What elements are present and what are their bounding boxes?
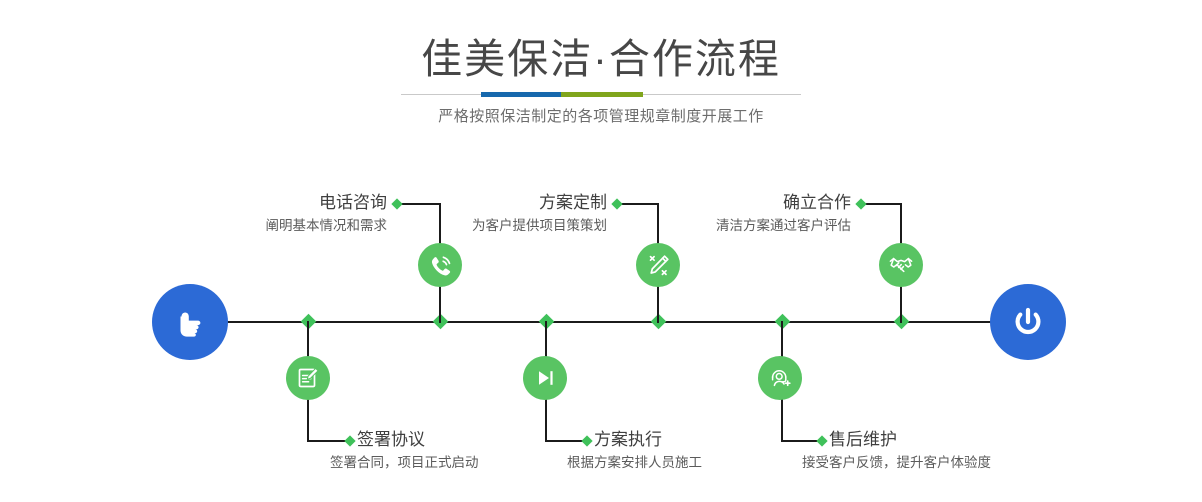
step-label-3: 方案定制 为客户提供项目策策划 xyxy=(380,192,607,236)
step-label-1: 电话咨询 阐明基本情况和需求 xyxy=(150,192,387,236)
step-label-5: 确立合作 清洁方案通过客户评估 xyxy=(620,192,851,236)
timeline-start-badge xyxy=(152,284,228,360)
step-title: 售后维护 xyxy=(829,429,1109,451)
connector-tip-5 xyxy=(855,198,866,209)
step-title: 电话咨询 xyxy=(150,192,387,214)
step-title: 确立合作 xyxy=(620,192,851,214)
title-divider xyxy=(401,92,801,97)
step-icon-badge-5 xyxy=(879,243,923,287)
step-desc: 阐明基本情况和需求 xyxy=(150,216,387,236)
step-icon-badge-4 xyxy=(523,356,567,400)
divider-segment-blue xyxy=(481,92,561,97)
step-desc: 接受客户反馈，提升客户体验度 xyxy=(802,453,1109,473)
step-icon-badge-2 xyxy=(286,356,330,400)
document-sign-icon xyxy=(295,365,321,391)
step-title: 方案定制 xyxy=(380,192,607,214)
phone-call-icon xyxy=(426,251,454,279)
page-title: 佳美保洁·合作流程 xyxy=(0,36,1202,82)
divider-segment-green xyxy=(561,92,643,97)
step-desc: 清洁方案通过客户评估 xyxy=(620,216,851,236)
step-desc: 为客户提供项目策策划 xyxy=(380,216,607,236)
handshake-icon xyxy=(887,251,915,279)
timeline-end-badge xyxy=(990,284,1066,360)
process-flow-infographic: 佳美保洁·合作流程 严格按照保洁制定的各项管理规章制度开展工作 xyxy=(0,0,1202,502)
power-icon xyxy=(1006,300,1050,344)
connector-tip-2 xyxy=(344,435,355,446)
pen-design-icon xyxy=(645,252,672,279)
page-subtitle: 严格按照保洁制定的各项管理规章制度开展工作 xyxy=(0,105,1202,129)
connector-horizontal-5 xyxy=(861,203,901,205)
step-icon-badge-1 xyxy=(418,243,462,287)
step-icon-badge-6 xyxy=(758,356,802,400)
step-icon-badge-3 xyxy=(636,243,680,287)
customer-service-icon xyxy=(767,365,793,391)
pointing-hand-icon xyxy=(168,300,212,344)
play-next-icon xyxy=(532,365,558,391)
step-label-6: 售后维护 接受客户反馈，提升客户体验度 xyxy=(829,429,1109,473)
